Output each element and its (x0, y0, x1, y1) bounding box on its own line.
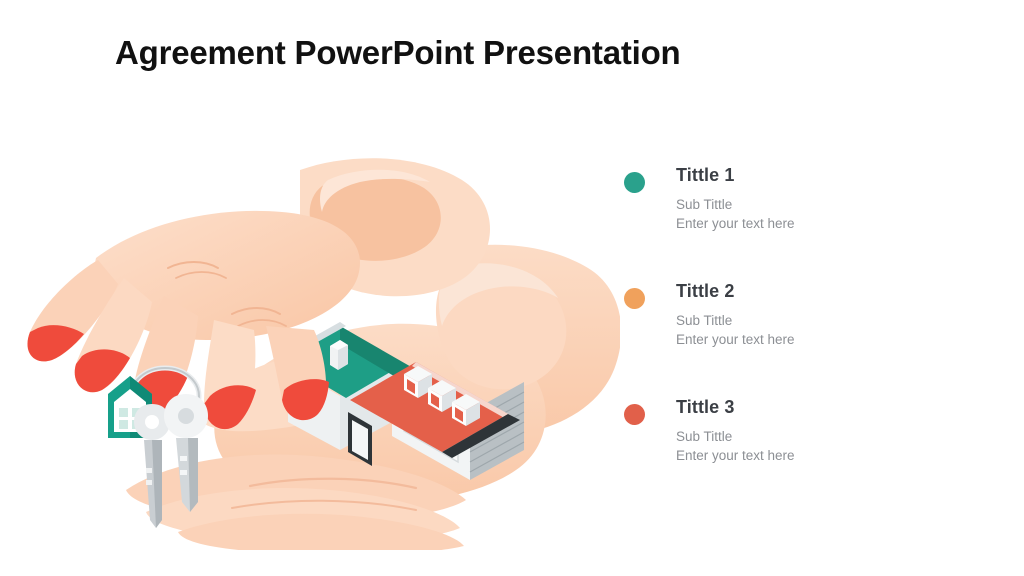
list-item-body: Enter your text here (676, 330, 964, 349)
list-item[interactable]: Tittle 2 Sub Tittle Enter your text here (624, 279, 964, 355)
house-chimney (330, 340, 348, 370)
list-item[interactable]: Tittle 1 Sub Tittle Enter your text here (624, 163, 964, 239)
list-item[interactable]: Tittle 3 Sub Tittle Enter your text here (624, 395, 964, 471)
list-item-subtitle: Sub Tittle (676, 427, 964, 446)
bullet-dot-icon (624, 288, 645, 309)
list-item-title: Tittle 3 (676, 395, 964, 419)
list-item-subtitle: Sub Tittle (676, 195, 964, 214)
presentation-slide: Agreement PowerPoint Presentation (0, 0, 1024, 576)
list-item-subtitle: Sub Tittle (676, 311, 964, 330)
list-item-body: Enter your text here (676, 446, 964, 465)
hands-house-keys-illustration (0, 150, 620, 550)
list-item-body: Enter your text here (676, 214, 964, 233)
bullet-dot-icon (624, 404, 645, 425)
list-item-title: Tittle 2 (676, 279, 964, 303)
page-title: Agreement PowerPoint Presentation (115, 34, 681, 72)
feature-list: Tittle 1 Sub Tittle Enter your text here… (624, 163, 964, 511)
bullet-dot-icon (624, 172, 645, 193)
list-item-title: Tittle 1 (676, 163, 964, 187)
